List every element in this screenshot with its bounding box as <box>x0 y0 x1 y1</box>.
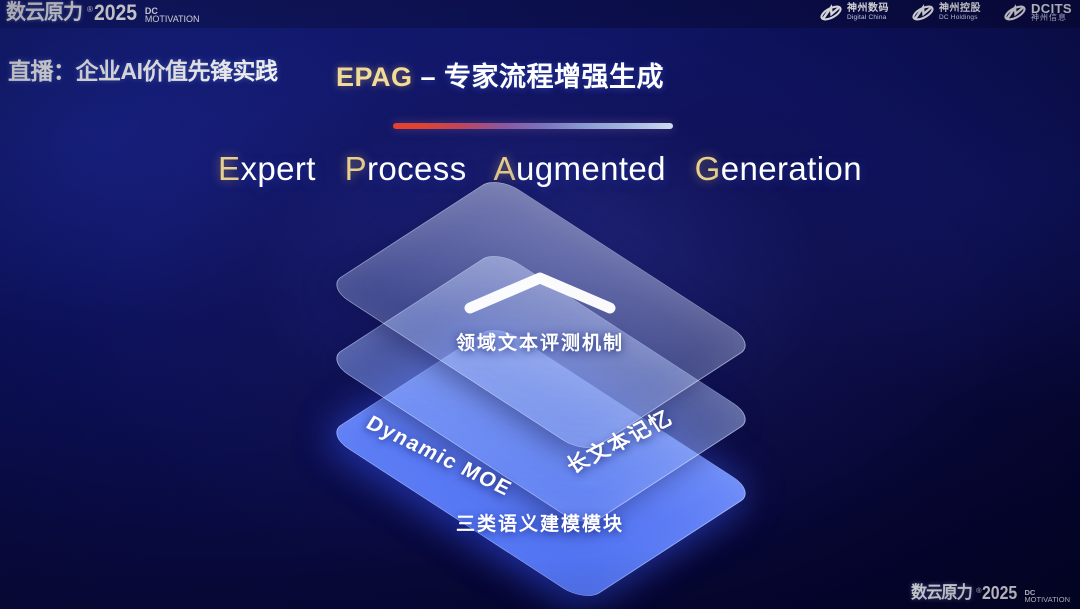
swirl-logo-icon <box>1003 3 1027 23</box>
gradient-divider <box>393 123 673 129</box>
partner-dcits: DCITS 神州信息 <box>1003 3 1072 23</box>
subtitle-space <box>325 150 335 187</box>
partner-digital-china: 神州数码 Digital China <box>819 3 889 23</box>
partner-name-cn: 神州控股 <box>939 4 981 13</box>
brand-logo: 数云原力 ® 2025 DC MOTIVATION <box>6 2 200 24</box>
partner-name-en: DC Holdings <box>939 13 981 22</box>
partner-name-cn: 神州数码 <box>847 4 889 13</box>
watermark-registered-mark: ® <box>976 586 981 598</box>
subtitle-word-augmented: Augmented <box>494 150 666 187</box>
partner-logo-group: 神州数码 Digital China 神州控股 DC Holdings <box>819 3 1072 23</box>
subtitle-space <box>476 150 486 187</box>
live-stream-label: 直播：企业AI价值先锋实践 <box>8 52 278 86</box>
partner-name-en: 神州信息 <box>1031 13 1072 22</box>
brand-dc-motivation: DC MOTIVATION <box>145 7 200 23</box>
title-acronym: EPAG <box>336 62 413 92</box>
partner-text: 神州数码 Digital China <box>847 4 889 22</box>
partner-name-cn: DCITS <box>1031 4 1072 13</box>
brand-dc-line2: MOTIVATION <box>145 15 200 23</box>
watermark-dc-motivation: DC MOTIVATION <box>1024 589 1070 603</box>
subtitle-word-process: Process <box>345 150 467 187</box>
brand-watermark: 数云原力 ® 2025 DC MOTIVATION <box>911 582 1070 604</box>
title-separator: – <box>413 62 445 92</box>
swirl-logo-icon <box>819 3 843 23</box>
subtitle-space <box>676 150 686 187</box>
brand-name-cn: 数云原力 <box>6 2 82 24</box>
page-title: EPAG – 专家流程增强生成 <box>336 55 664 94</box>
layered-architecture-diagram: 领域文本评测机制 Dynamic MOE 长文本记忆 三类语义建模模块 <box>290 222 790 567</box>
partner-text: DCITS 神州信息 <box>1031 4 1072 22</box>
registered-mark: ® <box>87 4 93 16</box>
brand-year: 2025 <box>94 2 137 24</box>
partner-text: 神州控股 DC Holdings <box>939 4 981 22</box>
subtitle-word-expert: Expert <box>218 150 316 187</box>
subtitle-word-generation: Generation <box>695 150 862 187</box>
header-bar: 数云原力 ® 2025 DC MOTIVATION 神州数码 Digital C… <box>0 0 1080 28</box>
swirl-logo-icon <box>911 3 935 23</box>
title-chinese: 专家流程增强生成 <box>444 62 664 92</box>
partner-name-en: Digital China <box>847 13 889 22</box>
watermark-year: 2025 <box>982 582 1017 604</box>
slide-canvas: 数云原力 ® 2025 DC MOTIVATION 神州数码 Digital C… <box>0 0 1080 609</box>
watermark-name-cn: 数云原力 <box>911 582 972 604</box>
subtitle-expansion: Expert Process Augmented Generation <box>0 150 1080 188</box>
partner-dc-holdings: 神州控股 DC Holdings <box>911 3 981 23</box>
watermark-dc-line2: MOTIVATION <box>1024 596 1070 603</box>
